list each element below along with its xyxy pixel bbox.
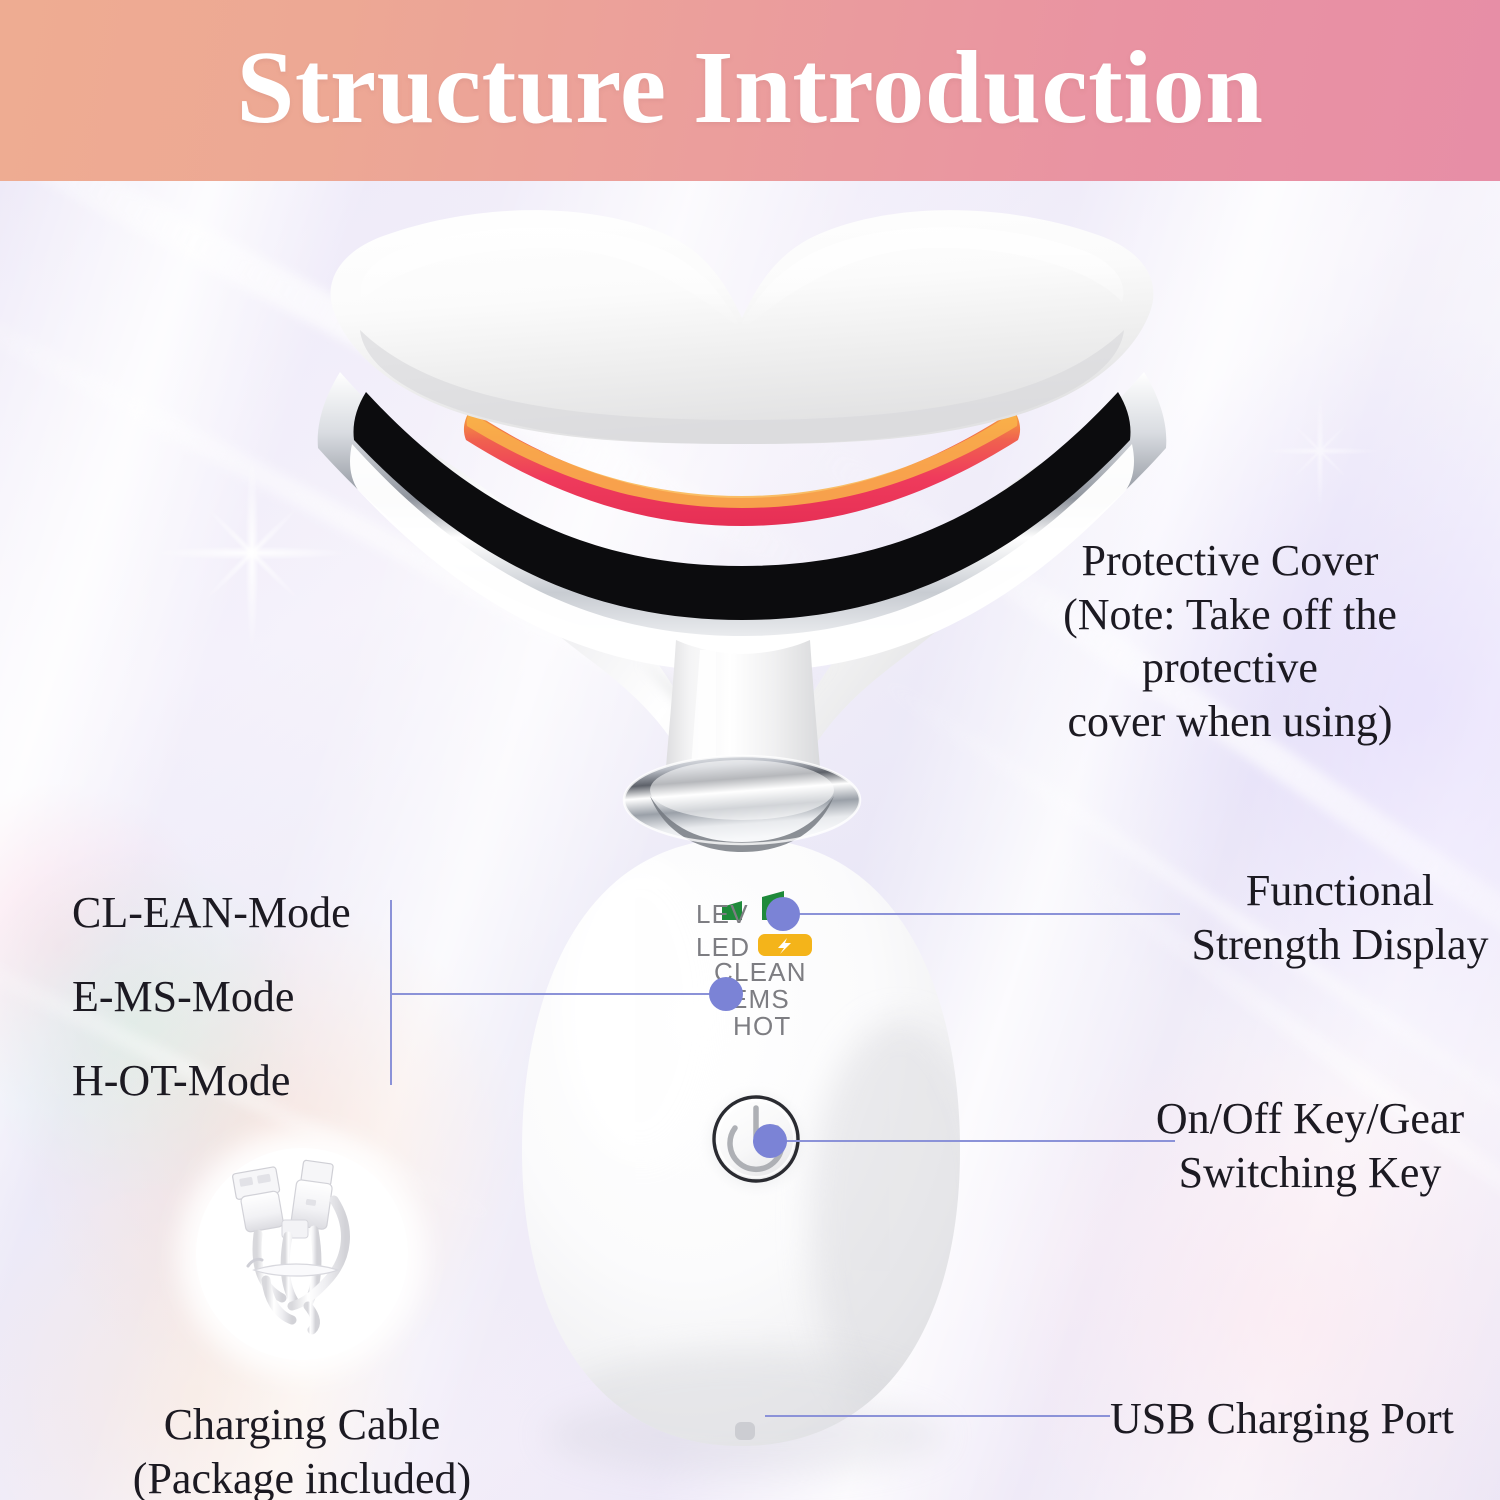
callout-onoff-line2: Switching Key bbox=[1120, 1146, 1500, 1200]
callout-usb-line1: USB Charging Port bbox=[1110, 1392, 1500, 1446]
leader-line-onoff-key bbox=[780, 1140, 1175, 1142]
marker-dot-modes bbox=[709, 977, 743, 1011]
callout-onoff-key: On/Off Key/Gear Switching Key bbox=[1120, 1092, 1500, 1199]
leader-line-modes-horizontal bbox=[390, 993, 730, 995]
display-row-lev-label: LEV bbox=[696, 899, 749, 930]
sparkle-icon bbox=[250, 551, 254, 555]
header-banner: Structure Introduction bbox=[0, 0, 1500, 181]
sparkle-icon bbox=[1319, 450, 1321, 452]
leader-line-strength-display bbox=[795, 913, 1180, 915]
callout-cable-line2: (Package included) bbox=[42, 1452, 562, 1500]
callout-charging-cable: Charging Cable (Package included) bbox=[42, 1398, 562, 1500]
callout-protective-cover-line3: cover when using) bbox=[980, 695, 1480, 749]
marker-dot-strength-display bbox=[766, 897, 800, 931]
callout-usb-port: USB Charging Port bbox=[1110, 1392, 1500, 1446]
callout-functional-strength-display: Functional Strength Display bbox=[1180, 864, 1500, 971]
callout-protective-cover-line1: Protective Cover bbox=[980, 534, 1480, 588]
light-streak bbox=[0, 254, 841, 790]
page-title: Structure Introduction bbox=[237, 36, 1264, 140]
infographic-canvas: Structure Introduction bbox=[0, 0, 1500, 1500]
callout-protective-cover: Protective Cover (Note: Take off the pro… bbox=[980, 534, 1480, 749]
display-row-hot-label: HOT bbox=[733, 1011, 791, 1042]
light-streak bbox=[806, 436, 1500, 1076]
marker-dot-onoff-key bbox=[753, 1124, 787, 1158]
mode-label-ems: E-MS-Mode bbox=[72, 970, 294, 1024]
charging-cable-icon bbox=[196, 1148, 408, 1360]
callout-strength-line1: Functional bbox=[1180, 864, 1500, 918]
callout-protective-cover-line2: (Note: Take off the protective bbox=[980, 588, 1480, 695]
leader-line-usb-port bbox=[765, 1415, 1110, 1417]
mode-label-clean: CL-EAN-Mode bbox=[72, 886, 351, 940]
callout-strength-line2: Strength Display bbox=[1180, 918, 1500, 972]
mode-label-hot: H-OT-Mode bbox=[72, 1054, 290, 1108]
callout-onoff-line1: On/Off Key/Gear bbox=[1120, 1092, 1500, 1146]
callout-cable-line1: Charging Cable bbox=[42, 1398, 562, 1452]
